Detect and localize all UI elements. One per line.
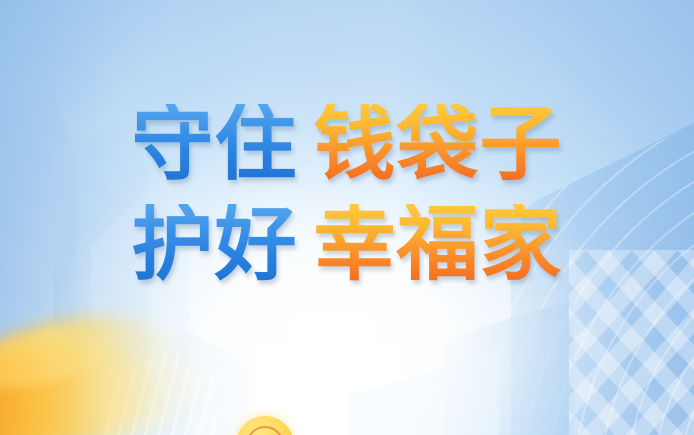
headline-line-1-blue: 守住 (131, 104, 297, 186)
headline-line-1: 守住钱袋子 (0, 104, 694, 186)
poster-canvas: 守住钱袋子 护好幸福家 (0, 0, 694, 435)
headline-line-2-orange: 幸福家 (314, 204, 563, 286)
headline-line-2: 护好幸福家 (0, 204, 694, 286)
headline-block: 守住钱袋子 护好幸福家 (0, 104, 694, 286)
headline-line-1-orange: 钱袋子 (314, 104, 563, 186)
headline-line-2-blue: 护好 (131, 204, 297, 286)
